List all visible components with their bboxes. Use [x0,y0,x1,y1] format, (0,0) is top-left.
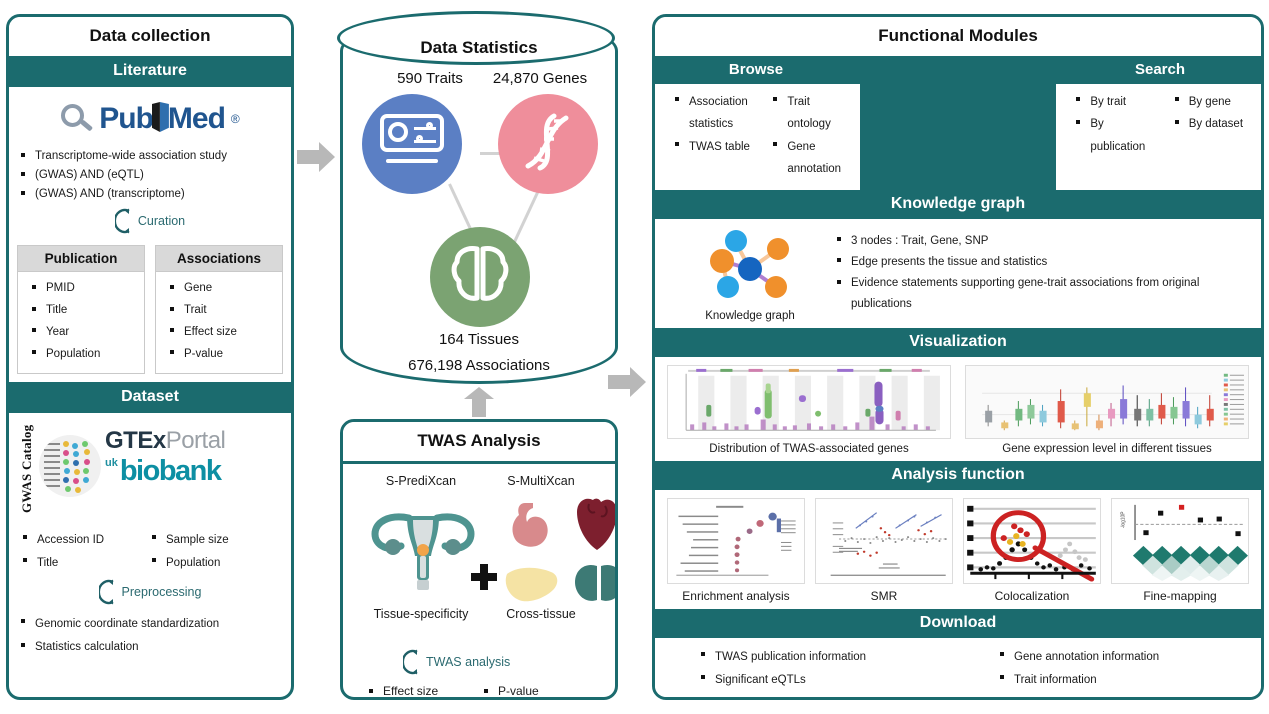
method-name-sprediXcan: S-PrediXcan [351,474,491,488]
list-item: Accession ID [21,529,150,552]
method-caption-cross-tissue: Cross-tissue [471,607,611,621]
viz-card-manhattan[interactable]: Distribution of TWAS-associated genes [667,365,951,455]
knowledge-graph-points: 3 nodes : Trait, Gene, SNP Edge presents… [835,231,1261,316]
data-statistics-title: Data Statistics [340,38,618,58]
trait-monitor-icon [362,94,462,194]
functional-modules-panel: Functional Modules Browse Search Associa… [652,14,1264,700]
twas-analysis-panel: TWAS Analysis S-PrediXcan S-MultiXcan [340,419,618,700]
list-item: Population [150,552,279,575]
list-item: Association statistics [673,91,757,136]
list-item: Significant eQTLs [699,669,958,692]
svg-text:-log10P: -log10P [1120,511,1126,528]
diagram-canvas: Data collection Literature PubMed ® Tran… [0,0,1269,714]
uk-biobank-logo: uk biobank [105,457,281,486]
download-band: Download [655,609,1261,638]
data-collection-panel: Data collection Literature PubMed ® Tran… [6,14,294,700]
method-name-smultiXcan: S-MultiXcan [471,474,611,488]
analysis-band: Analysis function [655,461,1261,490]
divider [860,84,1057,190]
pubmed-wordmark: PubMed [99,102,225,136]
colocalization-locuszoom-thumbnail [963,498,1101,584]
stomach-icon [505,500,557,552]
dataset-band: Dataset [9,382,291,413]
analysis-body: Enrichment analysis [655,490,1261,609]
literature-tables: Publication PMID Title Year Population A… [9,245,291,381]
visualization-band: Visualization [655,328,1261,357]
viz-caption: Distribution of TWAS-associated genes [667,439,951,455]
arrow-twas-to-statistics [462,387,496,417]
list-item: Trait ontology [771,91,855,136]
list-item: TWAS table [673,136,757,158]
divider [857,56,1059,84]
preprocessing-steps: Genomic coordinate standardization Stati… [19,611,281,660]
list-item: Trait information [998,669,1257,692]
twas-process: TWAS analysis [403,649,510,675]
circular-arrow-icon [115,208,135,234]
list-item: P-value [482,682,597,700]
liver-icon [503,564,561,608]
analysis-caption: Enrichment analysis [667,584,805,603]
list-item: Sample size [150,529,279,552]
gtex-ukbb-logos: GTExPortal uk biobank [105,421,281,486]
search-band: Search [1059,56,1261,84]
circular-arrow-icon [99,579,119,605]
book-icon [152,102,169,132]
table-header: Publication [18,246,144,272]
arrow-statistics-to-modules [608,365,648,399]
list-item: (GWAS) AND (transcriptome) [19,185,281,204]
gene-count-label: 24,870 Genes [460,70,620,87]
uk-label: uk [105,458,118,469]
table-row: PMID [30,278,140,300]
functional-modules-title: Functional Modules [655,17,1261,56]
browse-band: Browse [655,56,857,84]
dataset-logos: GWAS Catalog [19,421,281,525]
list-item: (GWAS) AND (eQTL) [19,166,281,185]
twas-outputs: Effect size P-value [367,682,597,700]
dataset-fields: Accession ID Title Sample size Populatio… [19,525,281,575]
table-header: Associations [156,246,282,272]
tissue-count-label: 164 Tissues [389,331,569,348]
browse-search-body: Association statistics TWAS table Trait … [655,84,1261,190]
finemapping-thumbnail: -log10P [1111,498,1249,584]
pubmed-logo: PubMed ® [19,95,281,143]
knowledge-graph-caption: Knowledge graph [665,310,835,322]
list-item: By trait [1074,91,1158,113]
list-item: Genomic coordinate standardization [19,613,281,637]
browse-search-bands: Browse Search [655,56,1261,84]
knowledge-graph-icon [694,225,806,303]
twas-body: S-PrediXcan S-MultiXcan [343,464,615,696]
viz-caption: Gene expression level in different tissu… [965,439,1249,455]
browse-body: Association statistics TWAS table Trait … [655,84,860,190]
biobank-label: biobank [120,457,221,486]
portal-label: Portal [166,427,226,454]
analysis-caption: Colocalization [963,584,1101,603]
list-item: TWAS publication information [699,646,958,669]
table-row: Year [30,322,140,344]
data-collection-title: Data collection [9,17,291,56]
analysis-caption: SMR [815,584,953,603]
analysis-caption: Fine-mapping [1111,584,1249,603]
visualization-body: Distribution of TWAS-associated genes [655,357,1261,461]
list-item: Effect size [367,682,482,700]
list-item: By publication [1074,113,1158,158]
literature-band: Literature [9,56,291,87]
circular-arrow-icon [403,649,423,675]
twas-title: TWAS Analysis [343,422,615,464]
analysis-card-colocalization[interactable]: Colocalization [963,498,1101,603]
gwas-catalog-icon [39,435,101,497]
arrow-collection-to-statistics [297,140,337,174]
magnifier-icon [60,104,94,134]
registered-icon: ® [231,112,240,126]
analysis-card-smr[interactable]: SMR [815,498,953,603]
gtex-label: GTEx [105,427,166,454]
viz-card-boxplot[interactable]: Gene expression level in different tissu… [965,365,1249,455]
table-row: Title [30,300,140,322]
table-row: Gene [168,278,278,300]
table-row: Effect size [168,322,278,344]
list-item: Gene annotation [771,136,855,181]
gtex-portal-logo: GTExPortal [105,427,281,455]
preprocessing-process: Preprocessing [19,579,281,605]
heart-icon [571,496,618,552]
dna-helix-icon [498,94,598,194]
analysis-card-finemapping[interactable]: -log10P Fine-mapping [1111,498,1249,603]
plus-icon [471,564,497,590]
list-item: 3 nodes : Trait, Gene, SNP [835,231,1251,252]
twas-process-label: TWAS analysis [426,655,510,669]
table-row: P-value [168,344,278,366]
preprocessing-label: Preprocessing [122,585,202,599]
list-item: Title [21,552,150,575]
analysis-card-enrichment[interactable]: Enrichment analysis [667,498,805,603]
list-item: By dataset [1173,113,1257,135]
knowledge-graph-body: Knowledge graph 3 nodes : Trait, Gene, S… [655,219,1261,328]
gwas-catalog-label: GWAS Catalog [19,421,35,517]
manhattan-plot-thumbnail [667,365,951,439]
smr-scatter-thumbnail [815,498,953,584]
knowledge-graph-figure: Knowledge graph [665,225,835,322]
curation-process: Curation [19,208,281,234]
table-row: Trait [168,300,278,322]
associations-table: Associations Gene Trait Effect size P-va… [155,245,283,373]
dataset-body: GWAS Catalog [9,413,291,666]
literature-query-list: Transcriptome-wide association study (GW… [19,147,281,203]
curation-label: Curation [138,214,185,228]
knowledge-graph-band: Knowledge graph [655,190,1261,219]
list-item: Transcriptome-wide association study [19,147,281,166]
list-item: Gene annotation information [998,646,1257,669]
list-item: Statistics calculation [19,636,281,660]
publication-table: Publication PMID Title Year Population [17,245,145,373]
list-item: Evidence statements supporting gene-trai… [835,273,1251,316]
brain-icon [430,227,530,327]
search-body: By trait By publication By gene By datas… [1056,84,1261,190]
data-statistics-panel: Data Statistics 590 Traits 24,870 Genes [340,14,618,384]
uterus-icon [369,500,477,600]
literature-body: PubMed ® Transcriptome-wide association … [9,87,291,245]
list-item: By gene [1173,91,1257,113]
enrichment-dotplot-thumbnail [667,498,805,584]
list-item: Edge presents the tissue and statistics [835,252,1251,273]
kidneys-icon [573,562,618,606]
gene-expression-boxplot-thumbnail [965,365,1249,439]
total-associations-label: 676,198 Associations [359,357,599,374]
method-caption-tissue-specificity: Tissue-specificity [351,607,491,621]
download-body: TWAS publication information Significant… [655,638,1261,700]
table-row: Population [30,344,140,366]
